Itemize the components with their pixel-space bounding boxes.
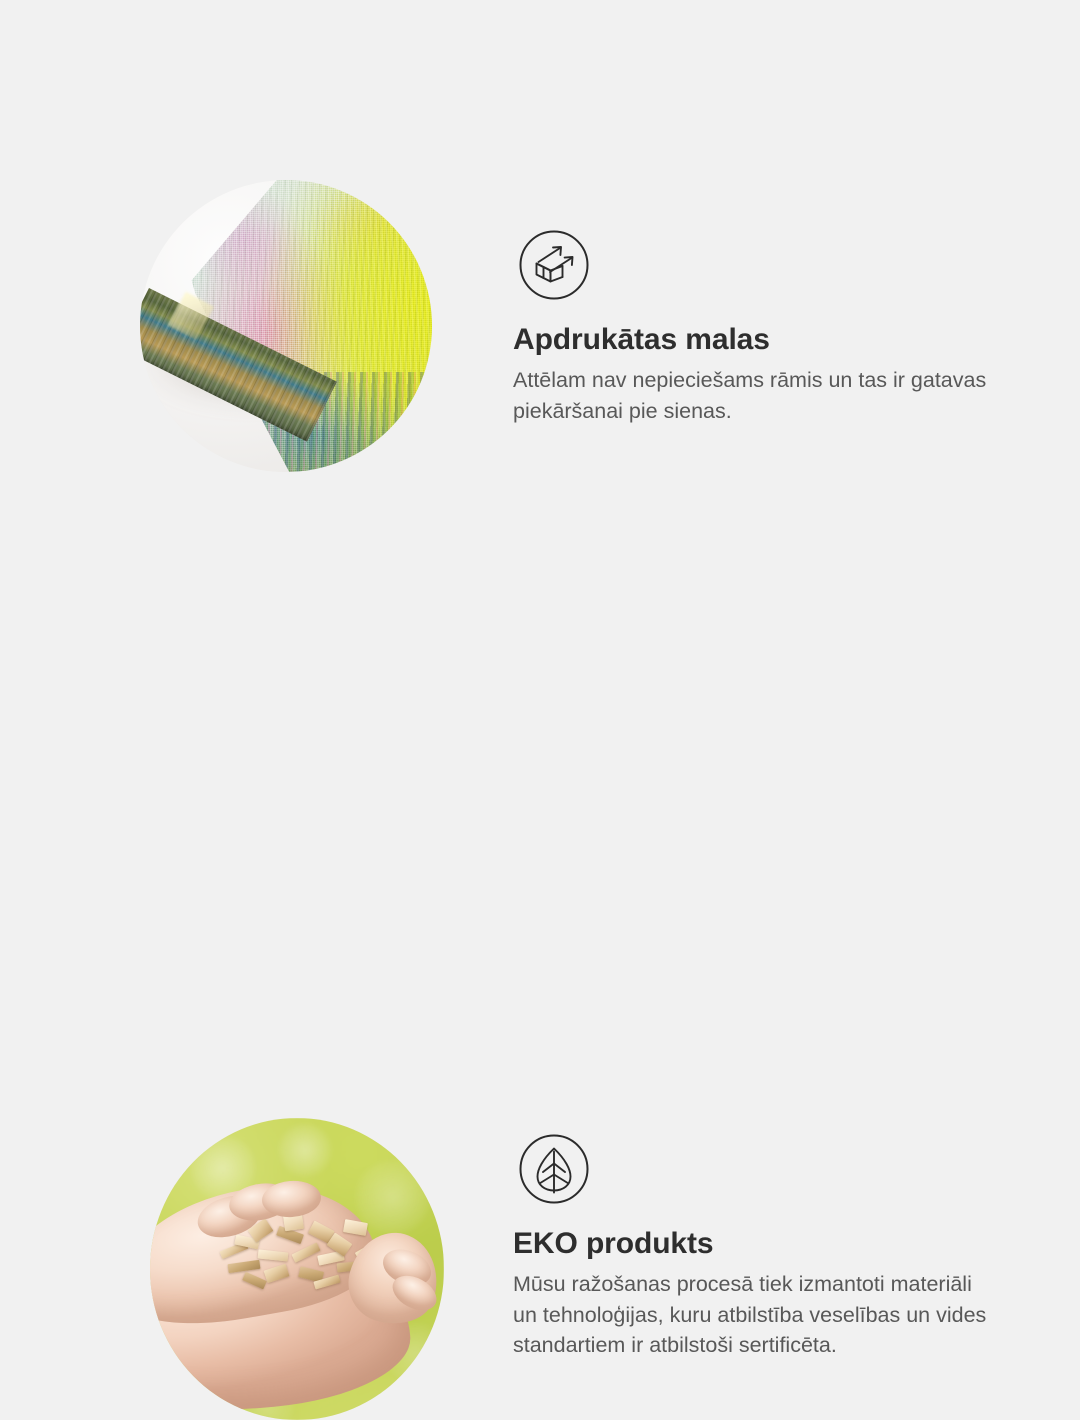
feature-title: EKO produkts [513,1226,1013,1262]
wood-chip [242,1272,266,1290]
wood-chip [264,1264,289,1283]
wood-chip [227,1260,260,1274]
printed-edges-icon [517,228,591,302]
feature-block-eco-product: EKO produkts Mūsu ražošanas procesā tiek… [0,540,1080,1080]
feature-page: Apdrukātas malas Attēlam nav nepieciešam… [0,0,1080,1080]
feature-title: Apdrukātas malas [513,322,1013,358]
wood-chip [343,1219,367,1235]
wood-chips-photo [150,1118,444,1420]
wood-chips-photo-inner [150,1118,444,1420]
feature-text-eco-product: EKO produkts Mūsu ražošanas procesā tiek… [513,1132,1013,1361]
feature-body: Attēlam nav nepieciešams rāmis un tas ir… [513,365,995,426]
wood-chip [257,1249,288,1261]
canvas-corner-photo-inner [140,180,432,472]
canvas-corner-photo [140,180,432,472]
feature-block-printed-edges: Apdrukātas malas Attēlam nav nepieciešam… [0,0,1080,540]
wood-chip [291,1243,320,1264]
cupped-hands [150,1118,444,1420]
leaf-icon [517,1132,591,1206]
feature-body: Mūsu ražošanas procesā tiek izmantoti ma… [513,1269,995,1361]
feature-text-printed-edges: Apdrukātas malas Attēlam nav nepieciešam… [513,228,1013,426]
